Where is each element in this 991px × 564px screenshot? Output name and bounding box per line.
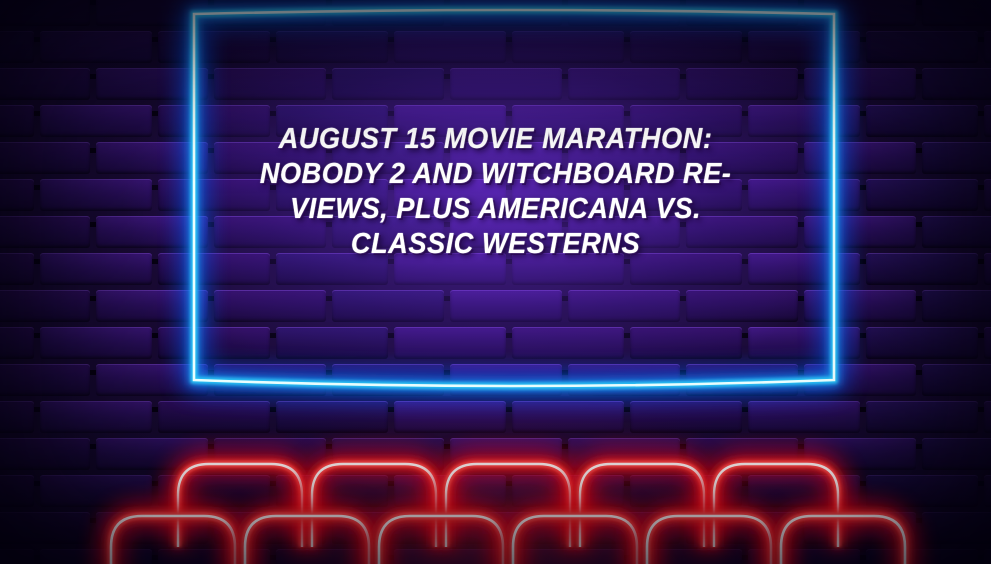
brick [332,0,444,26]
brick [748,549,860,564]
brick [40,549,152,564]
brick-course [0,475,991,507]
brick [984,327,991,359]
brick [922,364,991,396]
brick-course [0,327,991,359]
brick [450,0,562,26]
brick [276,475,388,507]
brick [214,438,326,470]
brick [686,512,798,544]
brick [450,364,562,396]
brick [0,68,90,100]
brick [40,31,152,63]
brick [630,327,742,359]
brick [40,401,152,433]
brick [158,31,270,63]
brick [214,364,326,396]
brick [0,512,90,544]
brick-course [0,68,991,100]
brick [394,401,506,433]
brick [276,31,388,63]
brick [214,512,326,544]
brick [394,327,506,359]
brick-wall-background [0,0,991,564]
poster-canvas: AUGUST 15 MOVIE MARATHON: NOBODY 2 AND W… [0,0,991,564]
brick [332,438,444,470]
brick [96,290,208,322]
brick [804,364,916,396]
brick [804,438,916,470]
brick [96,364,208,396]
brick [686,290,798,322]
brick [686,0,798,26]
brick [984,475,991,507]
brick [276,549,388,564]
brick [214,68,326,100]
brick [866,31,978,63]
brick-course [0,0,991,26]
brick [332,290,444,322]
brick [512,327,624,359]
brick [450,512,562,544]
brick [686,364,798,396]
brick [0,327,34,359]
brick [630,475,742,507]
brick [866,401,978,433]
brick [804,512,916,544]
brick [804,290,916,322]
brick [394,475,506,507]
brick [686,68,798,100]
brick [804,68,916,100]
brick-course [0,438,991,470]
brick [0,438,90,470]
brick [450,438,562,470]
brick [804,0,916,26]
brick [984,549,991,564]
brick-course [0,401,991,433]
brick [984,31,991,63]
brick [276,401,388,433]
brick [866,327,978,359]
brick [40,327,152,359]
brick [984,179,991,211]
brick-course [0,31,991,63]
brick [866,475,978,507]
brick [0,31,34,63]
brick [96,438,208,470]
brick [0,364,90,396]
brick [332,512,444,544]
brick [40,475,152,507]
brick [568,364,680,396]
brick [568,68,680,100]
brick [158,327,270,359]
brick [630,31,742,63]
brick-course [0,512,991,544]
brick [748,327,860,359]
brick [332,364,444,396]
brick [450,68,562,100]
brick [512,475,624,507]
brick [158,549,270,564]
brick [0,401,34,433]
brick [450,290,562,322]
brick-course [0,549,991,564]
brick [922,0,991,26]
brick [630,401,742,433]
brick [568,290,680,322]
brick [922,290,991,322]
brick [96,512,208,544]
brick [568,512,680,544]
page-title: AUGUST 15 MOVIE MARATHON: NOBODY 2 AND W… [30,122,962,262]
brick [0,475,34,507]
brick [748,475,860,507]
brick-course [0,290,991,322]
brick [512,31,624,63]
brick [748,401,860,433]
brick [922,68,991,100]
brick [96,68,208,100]
brick [96,0,208,26]
brick [630,549,742,564]
brick [512,549,624,564]
brick [0,290,90,322]
brick [394,31,506,63]
brick [158,475,270,507]
brick [748,31,860,63]
brick [214,0,326,26]
brick [922,512,991,544]
brick [568,0,680,26]
brick [922,438,991,470]
brick [512,401,624,433]
brick [686,438,798,470]
brick [984,401,991,433]
brick [866,549,978,564]
brick [276,327,388,359]
brick [332,68,444,100]
brick [0,549,34,564]
brick [568,438,680,470]
brick [158,401,270,433]
brick [984,105,991,137]
brick [394,549,506,564]
brick-course [0,364,991,396]
brick [984,253,991,285]
brick [214,290,326,322]
brick [0,0,90,26]
